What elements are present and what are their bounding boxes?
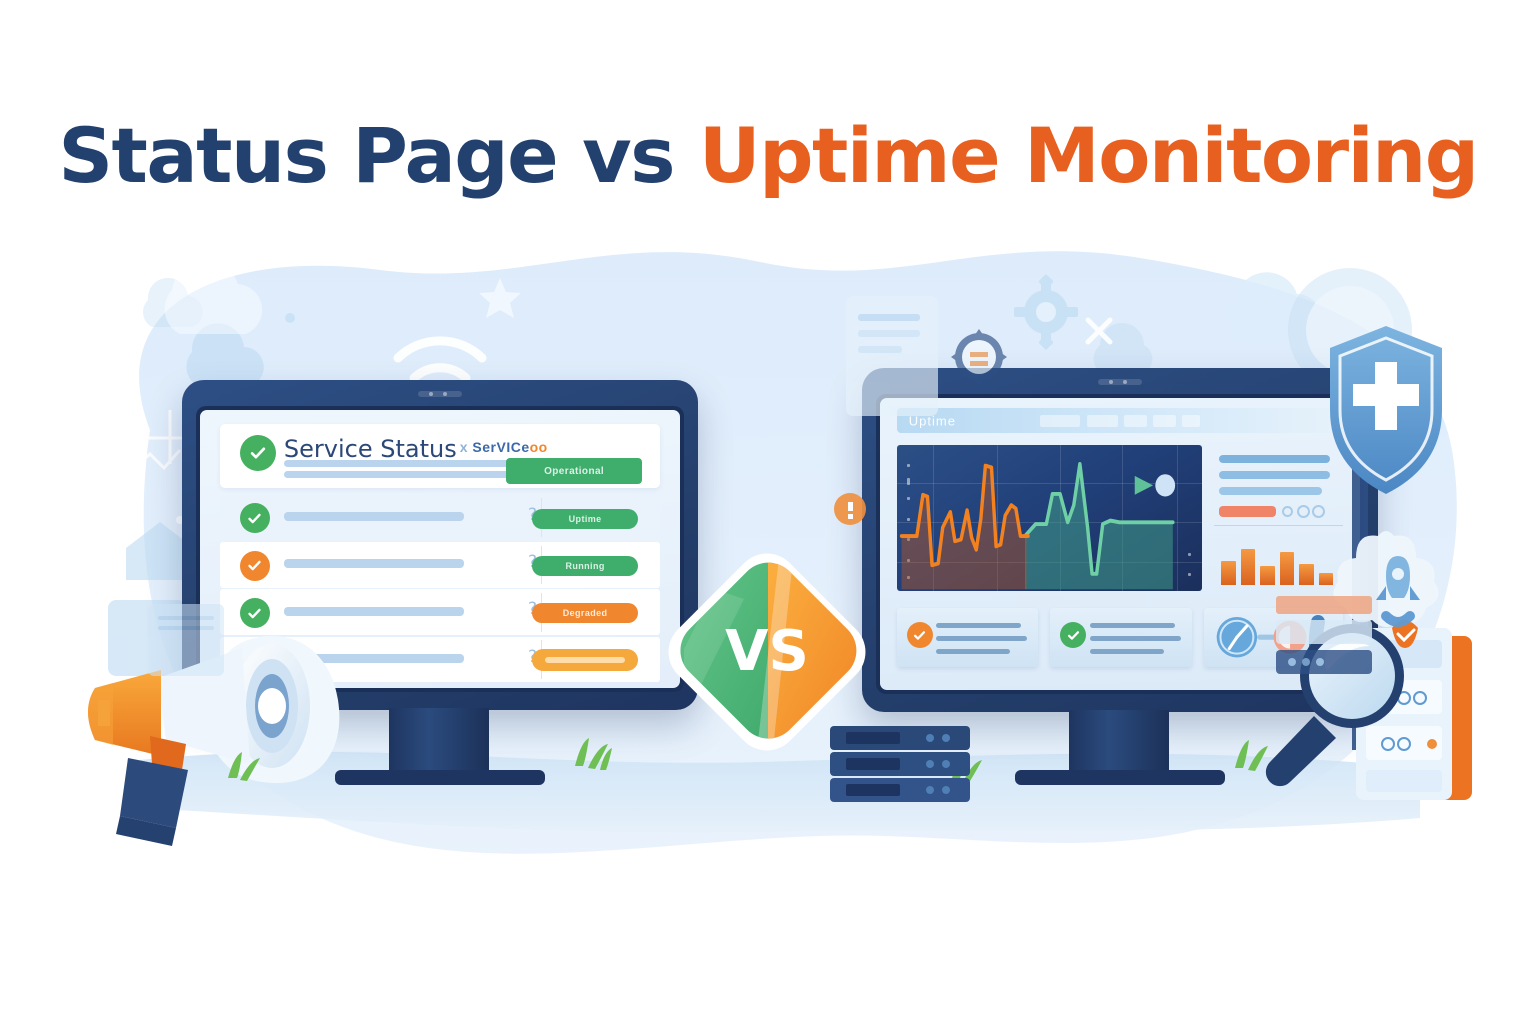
- server-stack-icon: [830, 726, 970, 802]
- grass-icon: [228, 738, 1268, 781]
- bg-doc-left: [148, 604, 224, 676]
- bg-rack-right: [1276, 596, 1372, 674]
- foreground-props: VS: [0, 0, 1536, 1024]
- bg-doc-right: [846, 296, 1007, 416]
- alert-mark-icon: [848, 502, 853, 519]
- vs-label: VS: [725, 619, 809, 684]
- illustration-canvas: Status Page vs Uptime Monitoring: [0, 0, 1536, 1024]
